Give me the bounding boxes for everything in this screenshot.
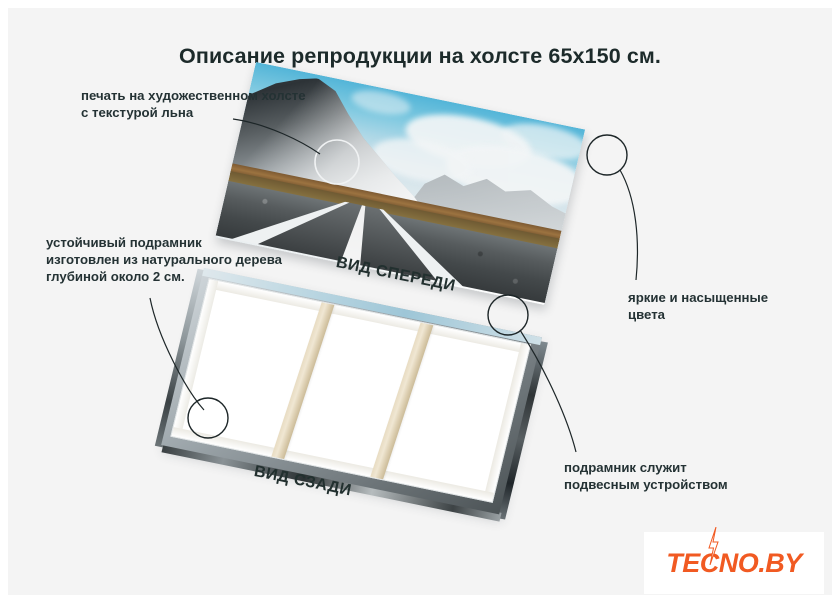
wooden-crossbar [368, 319, 435, 488]
canvas-back-surface [170, 278, 531, 503]
annotation-print-canvas: печать на художественном холсте с тексту… [81, 87, 351, 121]
annotation-hanging-device: подрамник служит подвесным устройством [564, 459, 794, 493]
infographic-canvas: Описание репродукции на холсте 65х150 см… [8, 8, 832, 595]
logo-text: TECNO.BY [666, 548, 802, 579]
wooden-crossbar [269, 299, 336, 468]
leader-line-colors [620, 170, 637, 280]
page-title: Описание репродукции на холсте 65х150 см… [8, 44, 832, 69]
annotation-bright-colors: яркие и насыщенные цвета [628, 289, 828, 323]
marker-circle-colors [587, 135, 627, 175]
annotation-stretcher-frame: устойчивый подрамник изготовлен из натур… [46, 234, 336, 285]
back-canvas-mockup [161, 268, 542, 514]
stretcher-outer [161, 268, 542, 514]
logo-tecno-by[interactable]: TECNO.BY [644, 532, 824, 594]
